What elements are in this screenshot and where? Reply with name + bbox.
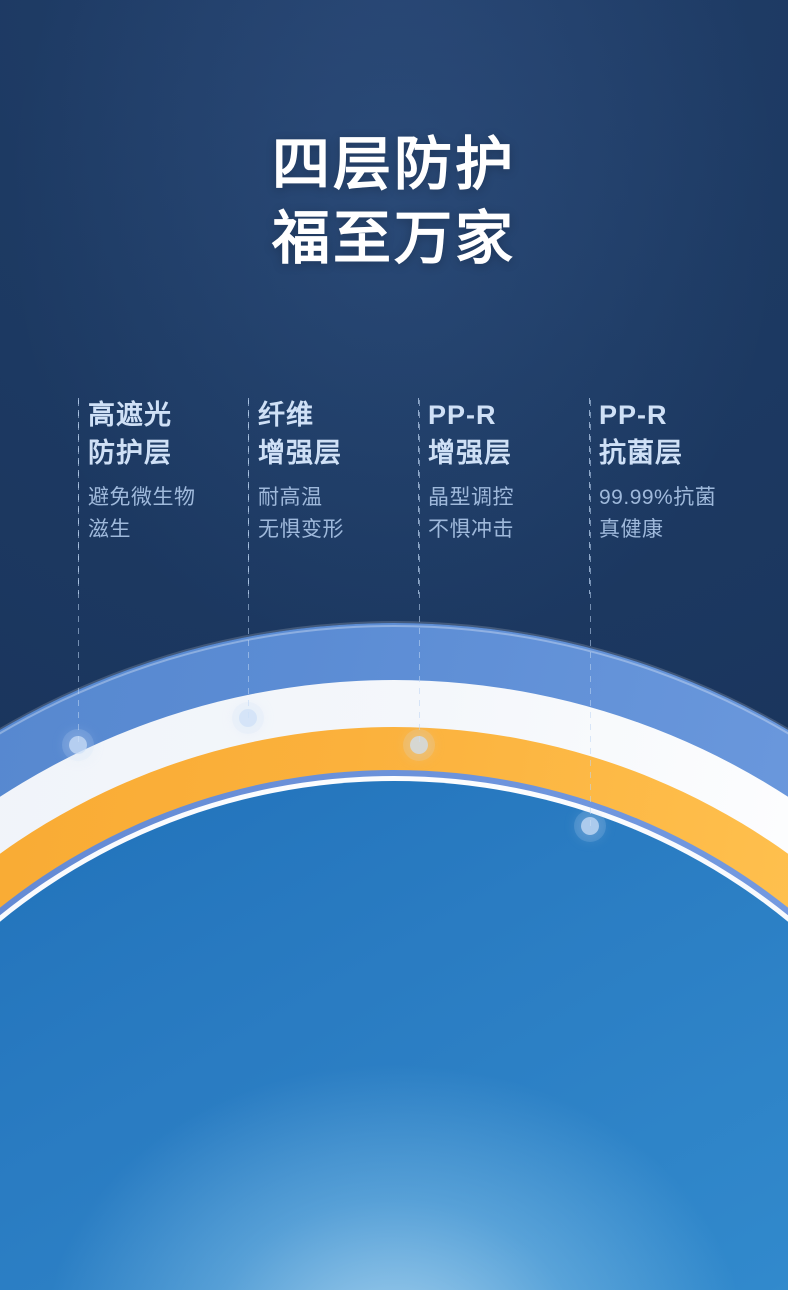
feature-desc-2-line-1: 耐高温 <box>258 482 344 514</box>
feature-title-1-line-1: 高遮光 <box>88 396 196 434</box>
feature-desc-3: 晶型调控 不惧冲击 <box>428 482 514 546</box>
feature-desc-4-line-1: 99.99%抗菌 <box>599 482 716 514</box>
feature-desc-1-line-1: 避免微生物 <box>88 482 196 514</box>
feature-desc-4: 99.99%抗菌 真健康 <box>599 482 716 546</box>
page-title-line-2: 福至万家 <box>0 202 788 276</box>
feature-desc-2-line-2: 无惧变形 <box>258 514 344 546</box>
feature-title-3: PP-R 增强层 <box>428 396 514 472</box>
feature-layer-2: 纤维 增强层 耐高温 无惧变形 <box>248 396 344 546</box>
feature-layer-4: PP-R 抗菌层 99.99%抗菌 真健康 <box>589 396 716 546</box>
page-title: 四层防护 福至万家 <box>0 128 788 276</box>
feature-desc-3-line-1: 晶型调控 <box>428 482 514 514</box>
feature-title-4-line-2: 抗菌层 <box>599 434 716 472</box>
feature-title-2: 纤维 增强层 <box>258 396 344 472</box>
feature-divider-3 <box>418 398 419 594</box>
feature-title-1: 高遮光 防护层 <box>88 396 196 472</box>
feature-desc-1: 避免微生物 滋生 <box>88 482 196 546</box>
feature-title-1-line-2: 防护层 <box>88 434 196 472</box>
feature-title-3-line-1: PP-R <box>428 396 514 434</box>
feature-layer-1: 高遮光 防护层 避免微生物 滋生 <box>78 396 196 546</box>
feature-divider-1 <box>78 398 79 594</box>
feature-desc-2: 耐高温 无惧变形 <box>258 482 344 546</box>
feature-desc-1-line-2: 滋生 <box>88 514 196 546</box>
feature-desc-3-line-2: 不惧冲击 <box>428 514 514 546</box>
feature-list: 高遮光 防护层 避免微生物 滋生 纤维 增强层 耐高温 无惧变形 <box>0 396 788 616</box>
feature-title-4: PP-R 抗菌层 <box>599 396 716 472</box>
feature-title-4-line-1: PP-R <box>599 396 716 434</box>
feature-desc-4-line-2: 真健康 <box>599 514 716 546</box>
feature-divider-4 <box>589 398 590 594</box>
feature-title-2-line-2: 增强层 <box>258 434 344 472</box>
pipe-cross-section-arcs <box>0 623 788 1290</box>
page-title-line-1: 四层防护 <box>0 128 788 202</box>
feature-title-2-line-1: 纤维 <box>258 396 344 434</box>
feature-layer-3: PP-R 增强层 晶型调控 不惧冲击 <box>418 396 514 546</box>
feature-divider-2 <box>248 398 249 594</box>
arc-layer-core-blue <box>0 781 788 1290</box>
feature-title-3-line-2: 增强层 <box>428 434 514 472</box>
pipe-layers-poster: 四层防护 福至万家 高遮光 防护层 避免微生物 滋生 纤维 <box>0 0 788 1290</box>
